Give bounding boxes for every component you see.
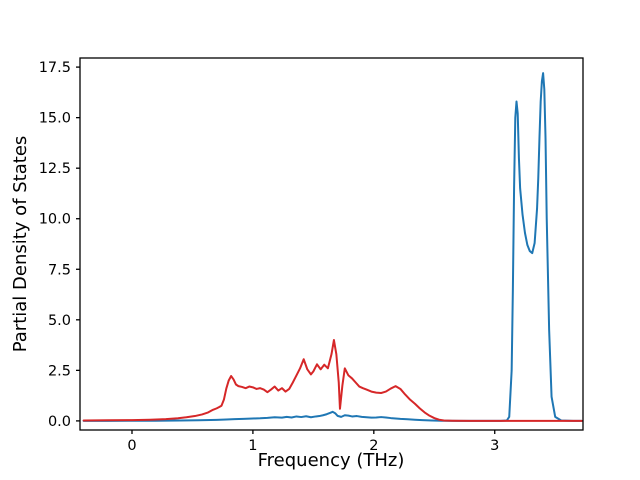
x-axis-title: Frequency (THz) — [258, 450, 405, 471]
y-tick-label: 17.5 — [39, 60, 71, 76]
figure-background — [0, 0, 640, 480]
y-tick-label: 12.5 — [39, 161, 71, 177]
y-tick-label: 7.5 — [48, 262, 71, 278]
y-tick-label: 15.0 — [39, 111, 71, 127]
x-tick-label: 0 — [127, 438, 136, 454]
y-tick-label: 2.5 — [48, 363, 71, 379]
x-tick-label: 3 — [490, 438, 499, 454]
x-tick-label: 1 — [248, 438, 257, 454]
figure-canvas: 0123 0.02.55.07.510.012.515.017.5 Freque… — [0, 0, 640, 480]
y-tick-label: 10.0 — [39, 212, 71, 228]
y-tick-label: 5.0 — [48, 313, 71, 329]
y-tick-label: 0.0 — [48, 414, 71, 430]
y-axis-title: Partial Density of States — [10, 136, 31, 353]
pdos-line-chart: 0123 0.02.55.07.510.012.515.017.5 Freque… — [0, 0, 640, 480]
